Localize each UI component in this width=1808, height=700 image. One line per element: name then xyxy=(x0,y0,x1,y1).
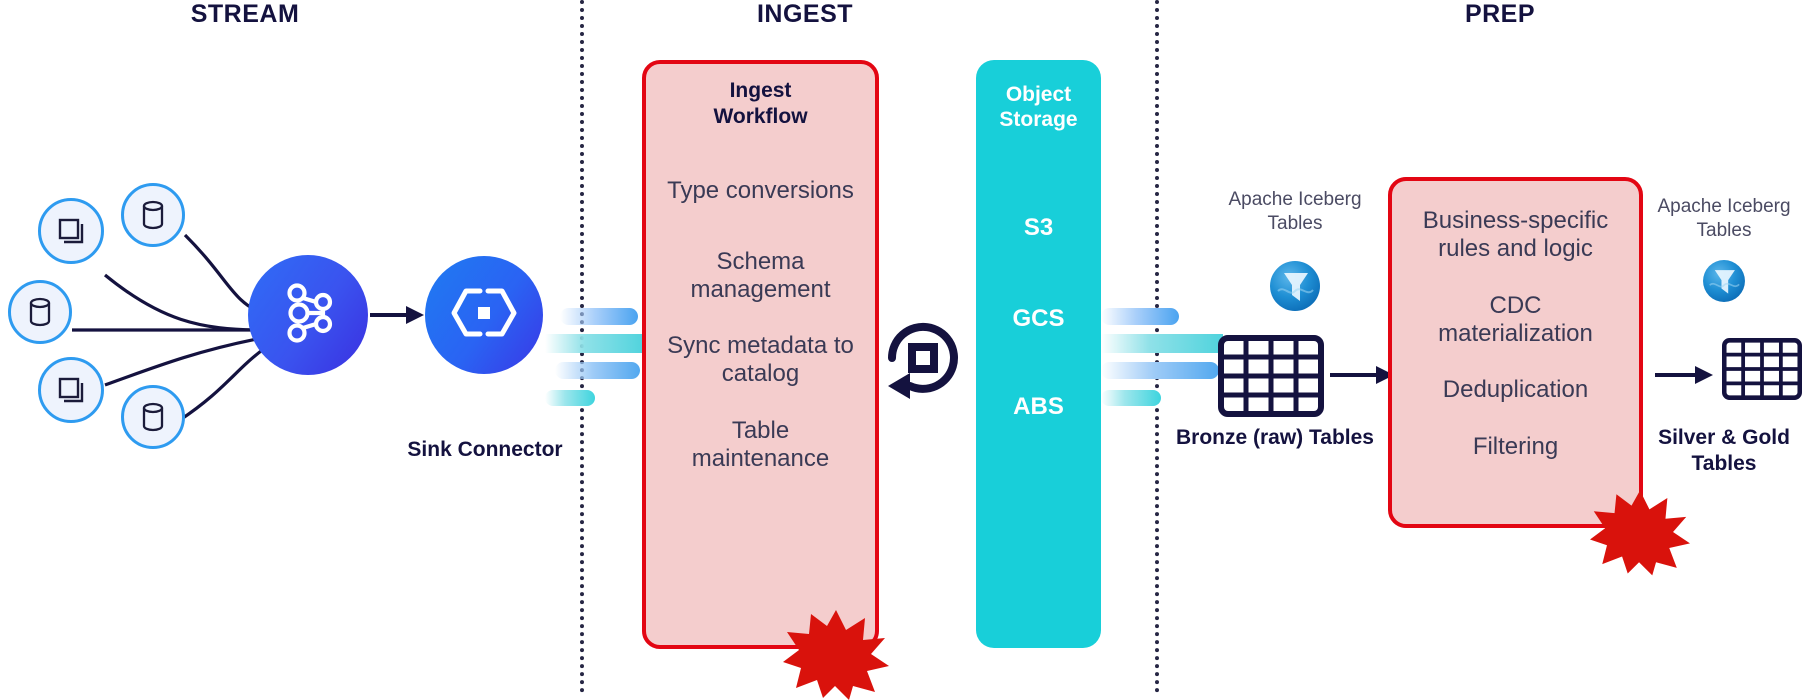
source-app-top[interactable] xyxy=(38,198,104,264)
source-db-top[interactable] xyxy=(121,183,185,247)
flow-bar-6 xyxy=(1101,334,1223,353)
source-app-bottom[interactable] xyxy=(38,357,104,423)
output-caption-top: Apache Iceberg Tables xyxy=(1640,195,1808,243)
prep-item-business-rules: Business-specific rules and logic xyxy=(1392,207,1639,264)
prep-item-deduplication: Deduplication xyxy=(1392,376,1639,404)
database-cylinder-icon xyxy=(139,199,167,231)
apache-iceberg-logo-icon xyxy=(1698,255,1750,312)
object-storage-item-s3: S3 xyxy=(1024,214,1053,242)
object-storage-title: Object Storage xyxy=(999,82,1077,132)
flow-bar-3 xyxy=(555,362,640,379)
flow-bar-2 xyxy=(545,334,645,353)
flow-bar-4 xyxy=(545,390,595,406)
flow-bar-1 xyxy=(560,308,638,325)
red-starburst-prep xyxy=(1590,488,1690,576)
flow-bar-5 xyxy=(1101,308,1179,325)
ingest-workflow-title-line2: Workflow xyxy=(646,104,875,130)
bronze-caption-top: Apache Iceberg Tables xyxy=(1170,188,1420,236)
database-cylinder-icon xyxy=(139,401,167,433)
ingest-item-table-maintenance: Table maintenance xyxy=(646,417,875,474)
red-starburst-ingest xyxy=(783,608,889,700)
section-title-stream: STREAM xyxy=(130,0,360,29)
connector-hexagon-icon xyxy=(446,282,522,349)
object-storage-box[interactable]: Object Storage S3 GCS ABS xyxy=(976,60,1101,648)
ingest-workflow-title-line1: Ingest xyxy=(646,78,875,104)
kafka-node[interactable] xyxy=(248,255,368,375)
bronze-table-grid-icon xyxy=(1218,335,1324,417)
stacked-squares-icon xyxy=(55,215,87,247)
ingest-item-sync-metadata: Sync metadata to catalog xyxy=(646,332,875,389)
stacked-squares-icon xyxy=(55,374,87,406)
output-table-grid-icon xyxy=(1722,335,1802,403)
bronze-caption-bottom: Bronze (raw) Tables xyxy=(1140,425,1410,451)
object-storage-item-abs: ABS xyxy=(1013,393,1064,421)
kafka-to-sink-arrow xyxy=(370,300,426,330)
kafka-logo-icon xyxy=(277,280,339,351)
ingest-workflow-box[interactable]: Ingest Workflow Type conversions Schema … xyxy=(642,60,879,649)
prep-item-cdc-materialization: CDC materialization xyxy=(1392,292,1639,349)
object-storage-item-gcs: GCS xyxy=(1012,305,1064,333)
ingest-item-type-conversions: Type conversions xyxy=(646,177,875,205)
database-cylinder-icon xyxy=(26,296,54,328)
section-title-prep: PREP xyxy=(1400,0,1600,29)
refresh-cycle-icon xyxy=(880,315,966,406)
diagram-canvas: STREAM INGEST PREP xyxy=(0,0,1808,693)
flow-bar-7 xyxy=(1101,362,1219,379)
sink-connector-label: Sink Connector xyxy=(390,437,580,463)
sink-connector-node[interactable] xyxy=(425,256,543,374)
source-db-middle[interactable] xyxy=(8,280,72,344)
source-db-bottom[interactable] xyxy=(121,385,185,449)
ingest-item-schema-management: Schema management xyxy=(646,248,875,305)
output-caption-bottom: Silver & Gold Tables xyxy=(1640,425,1808,478)
section-title-ingest: INGEST xyxy=(705,0,905,29)
prep-item-filtering: Filtering xyxy=(1392,433,1639,461)
bronze-to-prep-arrow xyxy=(1330,360,1396,390)
prep-to-output-arrow xyxy=(1655,360,1715,390)
ingest-workflow-title: Ingest Workflow xyxy=(646,78,875,129)
prep-transform-box[interactable]: Business-specific rules and logic CDC ma… xyxy=(1388,177,1643,528)
flow-bar-8 xyxy=(1101,390,1161,406)
apache-iceberg-logo-icon xyxy=(1264,255,1326,322)
